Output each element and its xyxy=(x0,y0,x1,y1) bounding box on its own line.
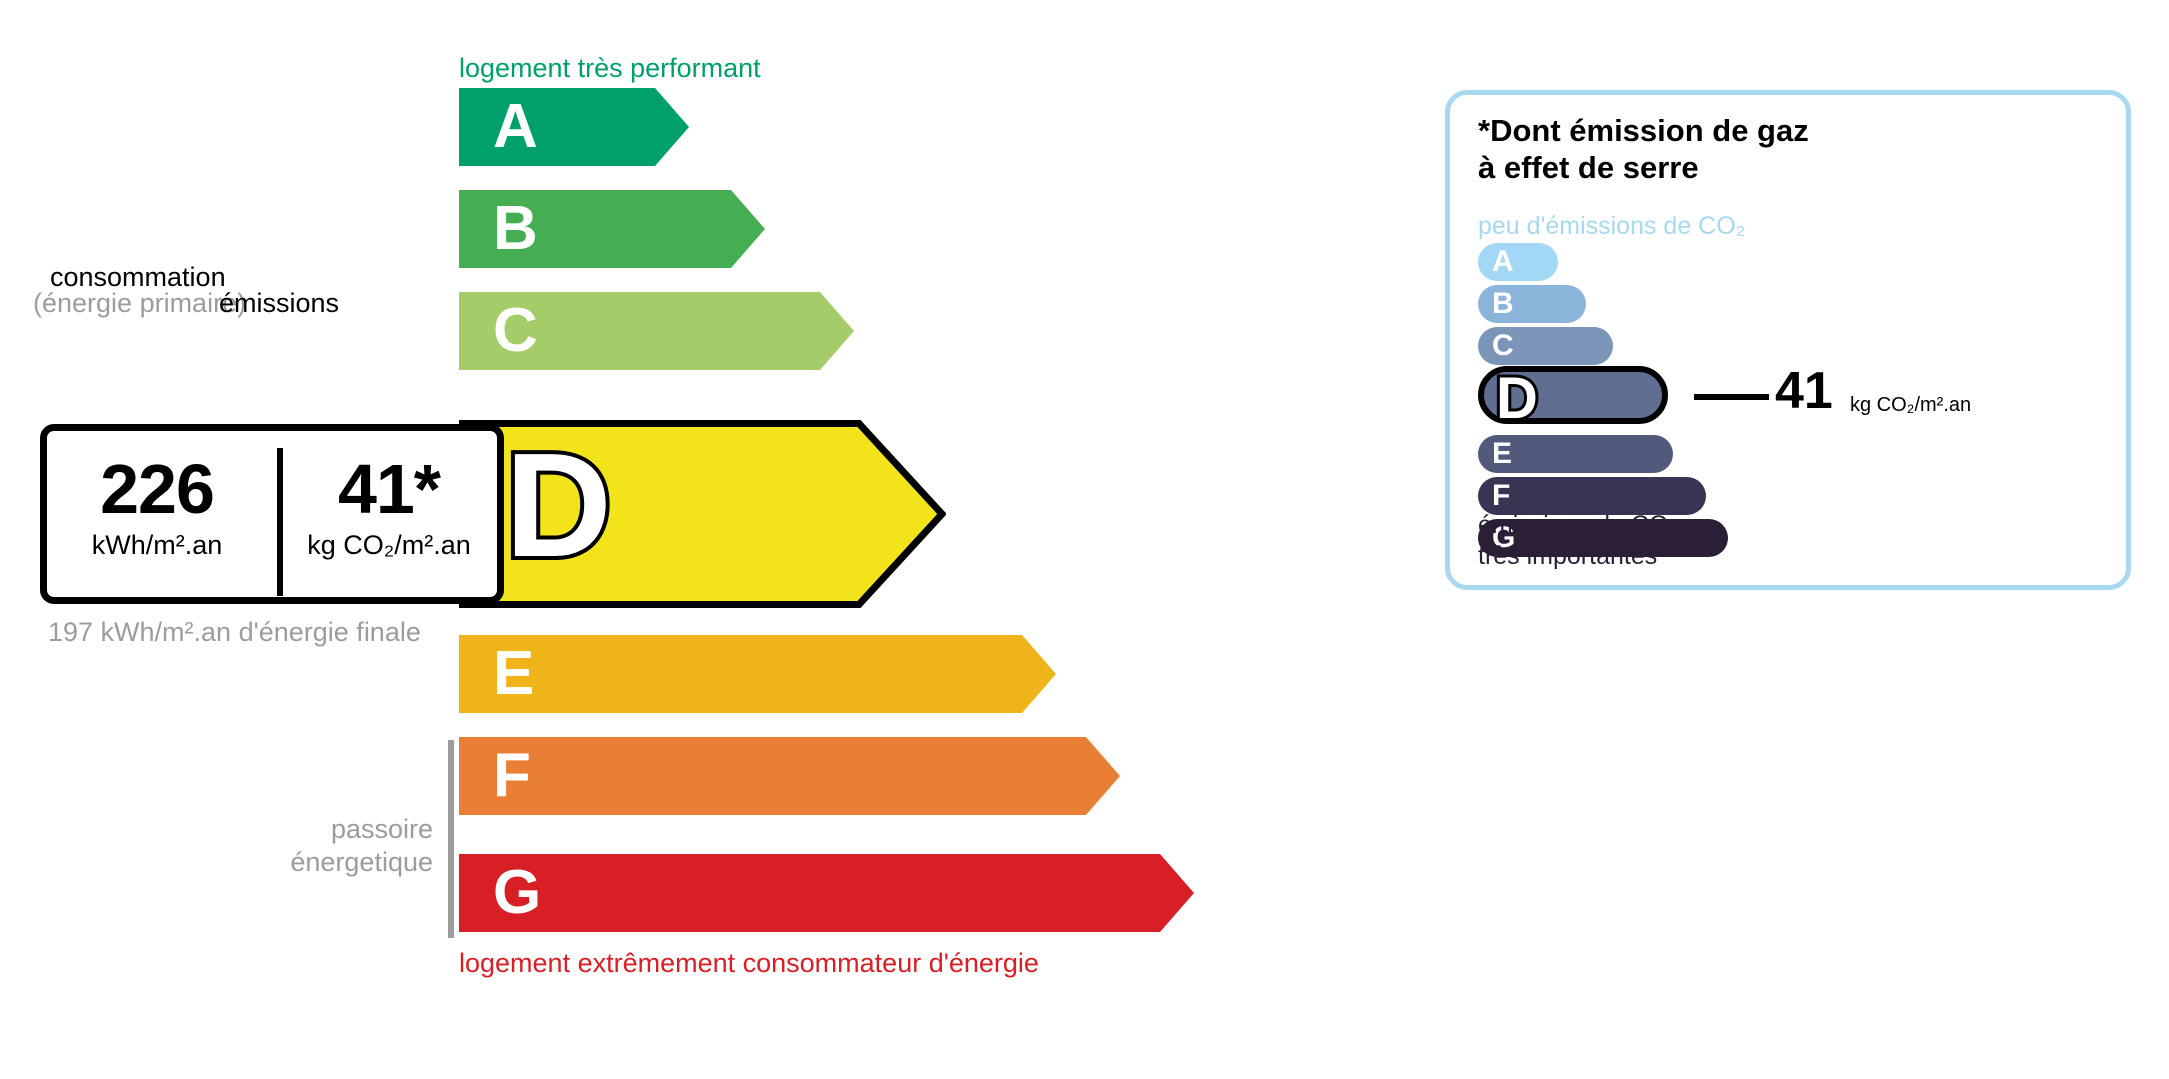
co2-panel-title: *Dont émission de gaz à effet de serre xyxy=(1478,113,1809,186)
energy-band-b-letter: B xyxy=(493,198,538,260)
co2-bar-a-letter: A xyxy=(1492,247,1514,277)
co2-bar-d-selected[interactable]: D xyxy=(1478,366,1668,424)
co2-callout-leader-line xyxy=(1694,394,1769,400)
energy-band-b[interactable]: B xyxy=(459,190,765,268)
final-energy-note: 197 kWh/m².an d'énergie finale xyxy=(48,616,421,649)
consumption-value: 226 xyxy=(47,453,267,527)
energy-band-f-letter: F xyxy=(493,745,531,807)
energy-band-d-letter-wrap: D xyxy=(505,444,655,584)
co2-callout-unit: kg CO₂/m².an xyxy=(1850,394,1971,417)
energy-legend-top: logement très performant xyxy=(459,53,761,84)
energy-band-c-letter: C xyxy=(493,300,538,362)
co2-bar-f-letter: F xyxy=(1492,481,1510,511)
emissions-value-cell: 41* kg CO₂/m².an xyxy=(279,453,499,561)
dpe-energy-panel: logement très performant A B C D xyxy=(0,0,1400,1079)
energy-legend-bottom: logement extrêmement consommateur d'éner… xyxy=(459,948,1039,979)
passoire-marker-bar xyxy=(448,740,454,938)
energy-band-f[interactable]: F xyxy=(459,737,1120,815)
co2-bar-b-letter: B xyxy=(1492,289,1514,319)
energy-band-c[interactable]: C xyxy=(459,292,854,370)
energy-band-e-letter: E xyxy=(493,643,534,705)
energy-band-a[interactable]: A xyxy=(459,88,689,166)
co2-bar-c[interactable]: C xyxy=(1478,327,1613,365)
energy-band-e-shape xyxy=(459,635,1056,713)
consumption-unit: kWh/m².an xyxy=(47,529,267,561)
label-emissions: émissions xyxy=(219,288,339,319)
co2-bar-e[interactable]: E xyxy=(1478,435,1673,473)
energy-band-g[interactable]: G xyxy=(459,854,1194,932)
energy-band-d-letter-svg: D xyxy=(505,444,655,584)
co2-legend-bottom: émissions de CO₂ très importantes xyxy=(1478,510,1678,571)
co2-bar-c-letter: C xyxy=(1492,331,1514,361)
co2-bar-b[interactable]: B xyxy=(1478,285,1586,323)
energy-band-a-letter: A xyxy=(493,96,538,158)
energy-band-e[interactable]: E xyxy=(459,635,1056,713)
co2-panel: *Dont émission de gaz à effet de serre p… xyxy=(1445,90,2131,590)
svg-text:D: D xyxy=(505,444,612,584)
emissions-value: 41* xyxy=(279,453,499,527)
svg-text:D: D xyxy=(1496,372,1538,430)
energy-band-f-shape xyxy=(459,737,1120,815)
co2-bar-e-letter: E xyxy=(1492,439,1512,469)
passoire-label: passoire énergetique xyxy=(193,813,433,879)
emissions-unit: kg CO₂/m².an xyxy=(279,529,499,561)
co2-bar-d-letter-svg: D xyxy=(1494,372,1550,430)
dpe-value-box: 226 kWh/m².an 41* kg CO₂/m².an xyxy=(40,424,504,604)
energy-band-g-shape xyxy=(459,854,1194,932)
energy-band-g-letter: G xyxy=(493,862,541,924)
co2-legend-top: peu d'émissions de CO₂ xyxy=(1478,212,1745,241)
energy-band-d-selected[interactable]: D xyxy=(459,420,946,608)
co2-bar-a[interactable]: A xyxy=(1478,243,1558,281)
consumption-value-cell: 226 kWh/m².an xyxy=(47,453,267,561)
co2-callout-value: 41 xyxy=(1775,365,1833,417)
label-energie-primaire: (énergie primaire) xyxy=(33,288,246,319)
